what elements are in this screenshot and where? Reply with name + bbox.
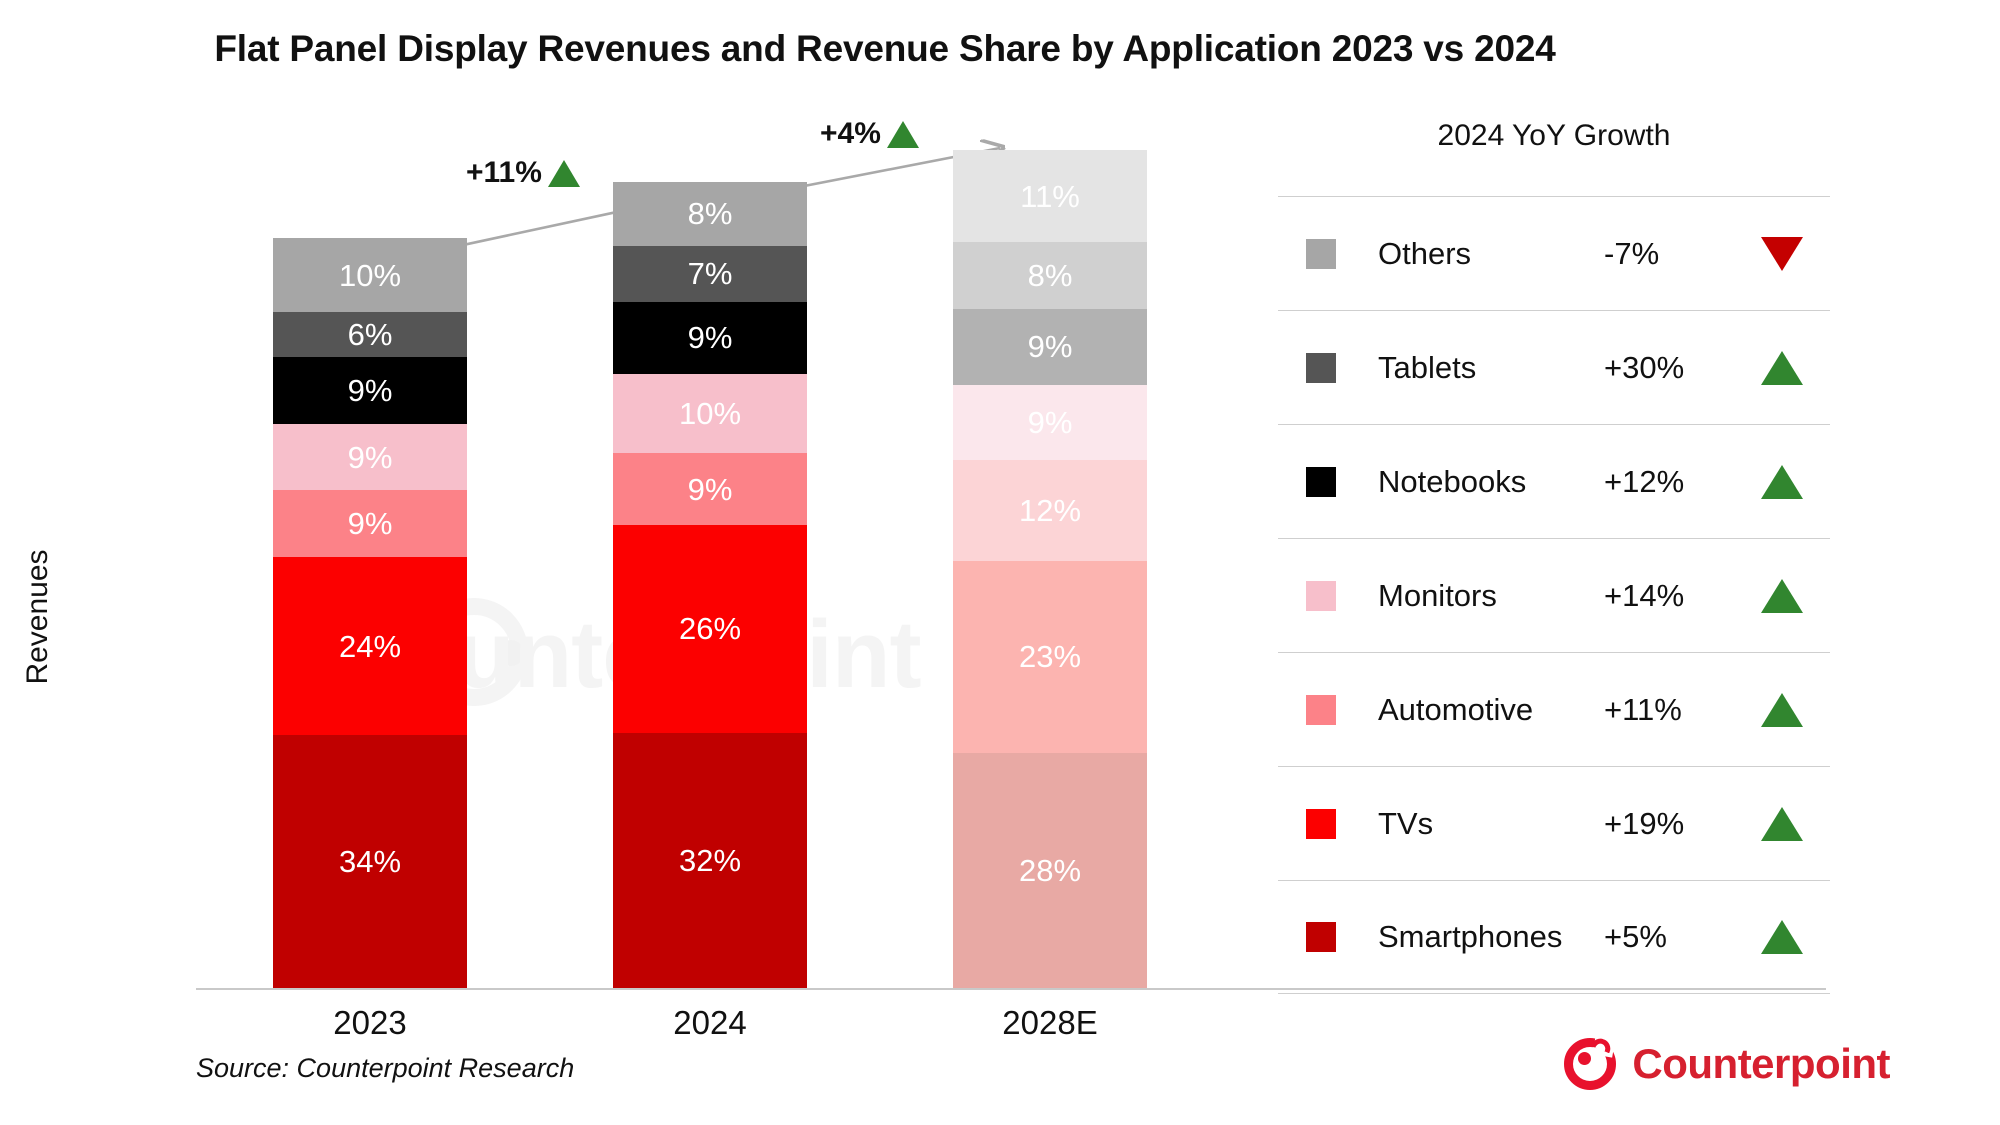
bar-segment-label: 9% <box>1028 407 1073 438</box>
triangle-up-icon <box>1761 693 1803 727</box>
bar-segment-notebooks[interactable]: 9% <box>273 357 467 424</box>
bar-segment-smartphones[interactable]: 34% <box>273 735 467 987</box>
bar-segment-monitors[interactable]: 10% <box>613 374 807 454</box>
bar-segment-label: 32% <box>679 845 741 876</box>
growth-label-2023-2024: +11% <box>466 156 580 190</box>
triangle-up-icon <box>1761 807 1803 841</box>
bar-2023[interactable]: 10%6%9%9%9%24%34% <box>273 238 467 988</box>
legend-row-tvs[interactable]: TVs+19% <box>1278 766 1830 880</box>
bar-segment-automotive[interactable]: 9% <box>273 490 467 557</box>
legend-swatch-icon <box>1306 809 1336 839</box>
legend-growth-value: +12% <box>1604 464 1734 500</box>
legend-row-smartphones[interactable]: Smartphones+5% <box>1278 880 1830 994</box>
bar-segment-notebooks[interactable]: 9% <box>953 309 1147 384</box>
legend-row-tablets[interactable]: Tablets+30% <box>1278 310 1830 424</box>
bar-segment-tvs[interactable]: 23% <box>953 561 1147 754</box>
triangle-up-icon <box>887 121 919 148</box>
x-axis-label-2024: 2024 <box>580 1004 840 1042</box>
legend-swatch-icon <box>1306 581 1336 611</box>
counterpoint-mark-icon <box>1564 1038 1616 1090</box>
legend-label: Others <box>1378 236 1604 272</box>
legend-growth-value: +14% <box>1604 578 1734 614</box>
triangle-up-icon <box>1761 579 1803 613</box>
bar-segment-tablets[interactable]: 6% <box>273 312 467 357</box>
legend-label: Notebooks <box>1378 464 1604 500</box>
bar-segment-label: 10% <box>339 260 401 291</box>
bar-segment-tablets[interactable]: 8% <box>953 242 1147 309</box>
legend-trend-indicator <box>1734 693 1830 727</box>
logo-text: Counterpoint <box>1632 1040 1890 1088</box>
legend-label: Tablets <box>1378 350 1604 386</box>
chart-root: Flat Panel Display Revenues and Revenue … <box>0 0 2000 1125</box>
counterpoint-logo: Counterpoint <box>1564 1038 1890 1090</box>
bar-segment-tvs[interactable]: 26% <box>613 525 807 732</box>
legend-row-monitors[interactable]: Monitors+14% <box>1278 538 1830 652</box>
triangle-up-icon <box>548 160 580 187</box>
triangle-down-icon <box>1761 237 1803 271</box>
bar-segment-label: 26% <box>679 613 741 644</box>
legend-trend-indicator <box>1734 807 1830 841</box>
legend-table: Others-7%Tablets+30%Notebooks+12%Monitor… <box>1278 196 1830 994</box>
legend-trend-indicator <box>1734 920 1830 954</box>
legend-header: 2024 YoY Growth <box>1278 119 1830 153</box>
bar-segment-label: 10% <box>679 398 741 429</box>
legend-label: Monitors <box>1378 578 1604 614</box>
bar-2028E[interactable]: 11%8%9%9%12%23%28% <box>953 150 1147 988</box>
legend-label: Automotive <box>1378 692 1604 728</box>
bar-segment-label: 11% <box>1020 181 1080 212</box>
bar-segment-monitors[interactable]: 9% <box>273 424 467 491</box>
bar-segment-label: 8% <box>1028 260 1073 291</box>
bar-2024[interactable]: 8%7%9%10%9%26%32% <box>613 182 807 988</box>
legend-growth-value: -7% <box>1604 236 1734 272</box>
growth-value-2023-2024: +11% <box>466 156 542 190</box>
bar-segment-notebooks[interactable]: 9% <box>613 302 807 374</box>
bar-segment-label: 12% <box>1019 495 1081 526</box>
y-axis-title: Revenues <box>21 517 55 717</box>
legend-swatch-icon <box>1306 467 1336 497</box>
bar-segment-automotive[interactable]: 9% <box>613 453 807 525</box>
bar-segment-label: 9% <box>1028 331 1073 362</box>
bar-segment-smartphones[interactable]: 28% <box>953 753 1147 988</box>
bar-segment-label: 9% <box>688 474 733 505</box>
legend-row-notebooks[interactable]: Notebooks+12% <box>1278 424 1830 538</box>
bar-segment-label: 9% <box>348 508 393 539</box>
bar-segment-label: 6% <box>348 319 393 350</box>
x-axis-label-2028E: 2028E <box>920 1004 1180 1042</box>
legend-growth-value: +11% <box>1604 692 1734 728</box>
bar-segment-tvs[interactable]: 24% <box>273 557 467 735</box>
bar-segment-label: 7% <box>688 258 733 289</box>
triangle-up-icon <box>1761 920 1803 954</box>
legend-growth-value: +19% <box>1604 806 1734 842</box>
growth-value-2024-2028: +4% <box>820 117 881 151</box>
legend-trend-indicator <box>1734 579 1830 613</box>
legend-label: Smartphones <box>1378 919 1604 955</box>
bar-segment-others[interactable]: 10% <box>273 238 467 312</box>
bar-segment-label: 9% <box>348 375 393 406</box>
legend-trend-indicator <box>1734 465 1830 499</box>
legend-row-automotive[interactable]: Automotive+11% <box>1278 652 1830 766</box>
bar-segment-automotive[interactable]: 12% <box>953 460 1147 561</box>
bar-segment-label: 8% <box>688 198 733 229</box>
bar-segment-label: 34% <box>339 846 401 877</box>
x-axis-label-2023: 2023 <box>240 1004 500 1042</box>
bar-segment-tablets[interactable]: 7% <box>613 246 807 302</box>
legend-swatch-icon <box>1306 695 1336 725</box>
legend-row-others[interactable]: Others-7% <box>1278 196 1830 310</box>
legend-swatch-icon <box>1306 922 1336 952</box>
bar-segment-others[interactable]: 11% <box>953 150 1147 242</box>
source-note: Source: Counterpoint Research <box>196 1053 574 1084</box>
legend-trend-indicator <box>1734 237 1830 271</box>
growth-label-2024-2028: +4% <box>820 117 919 151</box>
bar-segment-label: 9% <box>688 322 733 353</box>
bar-segment-label: 28% <box>1019 855 1081 886</box>
bar-segment-smartphones[interactable]: 32% <box>613 733 807 988</box>
legend-swatch-icon <box>1306 239 1336 269</box>
legend-growth-value: +5% <box>1604 919 1734 955</box>
triangle-up-icon <box>1761 465 1803 499</box>
bar-segment-others[interactable]: 8% <box>613 182 807 246</box>
triangle-up-icon <box>1761 351 1803 385</box>
bar-segment-label: 9% <box>348 442 393 473</box>
legend-growth-value: +30% <box>1604 350 1734 386</box>
legend-trend-indicator <box>1734 351 1830 385</box>
bar-segment-monitors[interactable]: 9% <box>953 385 1147 460</box>
legend-label: TVs <box>1378 806 1604 842</box>
bar-segment-label: 24% <box>339 631 401 662</box>
legend-swatch-icon <box>1306 353 1336 383</box>
bar-segment-label: 23% <box>1019 641 1081 672</box>
